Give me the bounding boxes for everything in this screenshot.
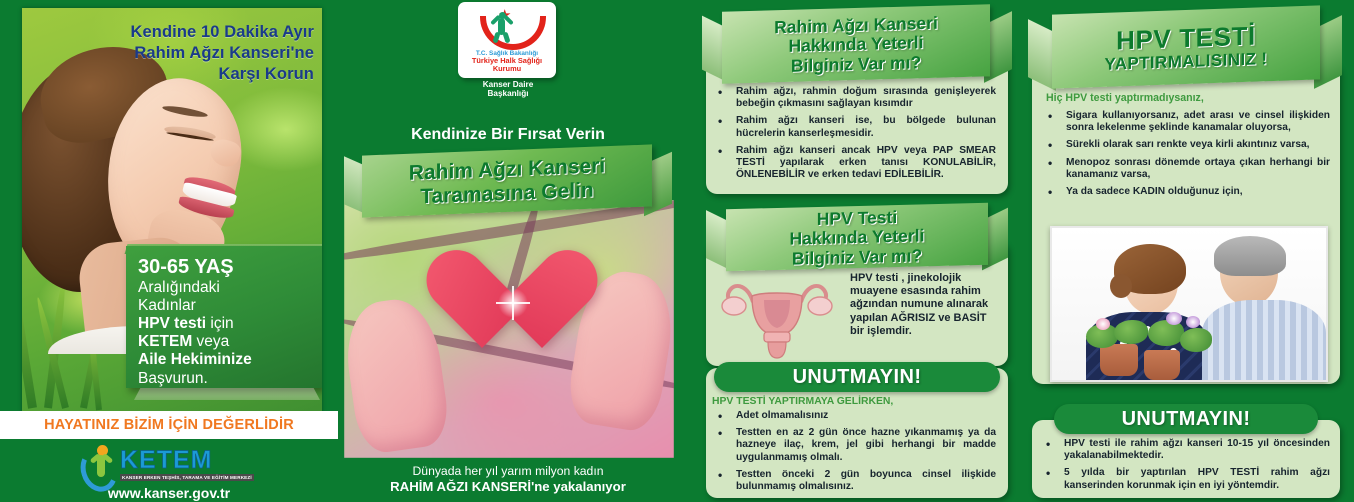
heart-hands-photo xyxy=(344,200,674,458)
card1-title-line-3: Bilginiz Var mı? xyxy=(791,53,921,76)
unutmayin-pill-three: UNUTMAYIN! xyxy=(714,362,1000,392)
age-line-2: Aralığındaki xyxy=(138,279,314,297)
card4-title-line-2: YAPTIRMALISINIZ ! xyxy=(1105,50,1268,74)
ketem-logo: KETEM KANSER ERKEN TEŞHİS, TARAMA VE EĞİ… xyxy=(75,444,254,484)
flower-shape xyxy=(1096,318,1110,330)
uterus-icon xyxy=(708,272,846,360)
list-item: Rahim ağzı kanseri ancak HPV veya PAP SM… xyxy=(710,145,996,182)
headline-line-3: Karşı Korun xyxy=(52,64,314,85)
flower-shape xyxy=(1186,316,1200,328)
headline-line-1: Kendine 10 Dakika Ayır xyxy=(52,22,314,43)
card1-bullet-list: Rahim ağzı, rahmin doğum sırasında geniş… xyxy=(710,86,996,187)
card2-title: HPV Testi Hakkında Yeterli Bilginiz Var … xyxy=(726,205,988,271)
left-headline: Kendine 10 Dakika Ayır Rahim Ağzı Kanser… xyxy=(52,22,314,84)
green-box-bottom-flap xyxy=(134,386,320,400)
hpv-test-rest: için xyxy=(206,315,234,332)
age-line-6: Aile Hekiminize xyxy=(138,351,314,369)
ministry-logo: ★ T.C. Sağlık Bakanlığı Türkiye Halk Sağ… xyxy=(458,2,556,78)
orange-slogan-text: HAYATINIZ BİZİM İÇİN DEĞERLİDİR xyxy=(44,417,294,433)
left-photo-card: Kendine 10 Dakika Ayır Rahim Ağzı Kanser… xyxy=(22,8,322,413)
age-line-7: Başvurun. xyxy=(138,370,314,388)
ketem-url[interactable]: www.kanser.gov.tr xyxy=(0,485,338,501)
list-item: Testten önceki 2 gün boyunca cinsel iliş… xyxy=(710,469,996,493)
list-item: Menopoz sonrası dönemde ortaya çıkan her… xyxy=(1040,157,1330,181)
card1-title: Rahim Ağzı Kanseri Hakkında Yeterli Bilg… xyxy=(722,6,990,83)
unutmayin-label: UNUTMAYIN! xyxy=(1122,408,1251,431)
card2-title-line-3: Bilginiz Var mı? xyxy=(792,246,922,268)
age-range: 30-65 YAŞ xyxy=(138,256,314,279)
age-callout-box: 30-65 YAŞ Aralığındaki Kadınlar HPV test… xyxy=(126,246,322,388)
unutmayin-pill-four: UNUTMAYIN! xyxy=(1054,404,1318,434)
card3-intro: HPV TESTİ YAPTIRMAYA GELİRKEN, xyxy=(712,396,893,407)
list-item: Rahim ağzı kanseri ise, bu bölgede bulun… xyxy=(710,115,996,139)
panel-left: Kendine 10 Dakika Ayır Rahim Ağzı Kanser… xyxy=(0,0,338,502)
list-item: Ya da sadece KADIN olduğunuz için, xyxy=(1040,186,1330,198)
ministry-line-3: Kurumu xyxy=(458,65,556,73)
leaf-shape xyxy=(1180,328,1212,352)
panel-four: HPV TESTİ YAPTIRMALISINIZ ! Hiç HPV test… xyxy=(1018,0,1354,502)
middle-banner-text: Rahim Ağzı Kanseri Taramasına Gelin xyxy=(362,146,652,217)
card4-intro: Hiç HPV testi yaptırmadıysanız, xyxy=(1046,92,1204,104)
list-item: Testten en az 2 gün önce hazne yıkanmamı… xyxy=(710,427,996,464)
ketem-logo-block: KETEM KANSER ERKEN TEŞHİS, TARAMA VE EĞİ… xyxy=(0,439,338,502)
headline-line-2: Rahim Ağzı Kanseri'ne xyxy=(52,43,314,64)
card4b-bullet-list: HPV testi ile rahim ağzı kanseri 10-15 y… xyxy=(1038,438,1330,497)
list-item: Sigara kullanıyorsanız, adet arası ve ci… xyxy=(1040,110,1330,134)
age-line-3: Kadınlar xyxy=(138,297,314,315)
hpv-test-bold: HPV testi xyxy=(138,315,206,332)
ketem-wordmark: KETEM xyxy=(120,448,254,473)
flower-pot-shape xyxy=(1144,350,1180,380)
ketem-figure-icon xyxy=(75,444,117,484)
middle-footer-line-1: Dünyada her yıl yarım milyon kadın xyxy=(338,464,678,479)
ministry-emblem-icon: ★ xyxy=(458,2,556,48)
panel-three: Rahim Ağzı Kanseri Hakkında Yeterli Bilg… xyxy=(700,0,1018,502)
flower-shape xyxy=(1166,312,1182,325)
ketem-bold: KETEM xyxy=(138,333,192,350)
ketem-rest: veya xyxy=(192,333,229,350)
man-shirt-shape xyxy=(1202,300,1326,382)
poster-root: Kendine 10 Dakika Ayır Rahim Ağzı Kanser… xyxy=(0,0,1354,502)
orange-slogan-strip: HAYATINIZ BİZİM İÇİN DEĞERLİDİR xyxy=(0,411,338,439)
card4-bullet-list: Sigara kullanıyorsanız, adet arası ve ci… xyxy=(1040,110,1330,203)
card3-bullet-list: Adet olmamalısınız Testten en az 2 gün ö… xyxy=(710,410,996,498)
woman-bun-shape xyxy=(1110,274,1132,298)
card4-title: HPV TESTİ YAPTIRMALISINIZ ! xyxy=(1052,7,1320,88)
list-item: Adet olmamalısınız xyxy=(710,410,996,422)
elderly-couple-photo xyxy=(1050,226,1328,382)
panel-middle: ★ T.C. Sağlık Bakanlığı Türkiye Halk Sağ… xyxy=(338,0,678,502)
middle-subheading: Kendinize Bir Fırsat Verin xyxy=(338,126,678,144)
man-hair-shape xyxy=(1214,236,1286,276)
ministry-caption: Kanser Daire Başkanlığı xyxy=(448,80,568,99)
age-line-5: KETEM veya xyxy=(138,333,314,351)
ministry-caption-line-1: Kanser Daire xyxy=(448,80,568,89)
middle-footer: Dünyada her yıl yarım milyon kadın RAHİM… xyxy=(338,458,678,496)
age-line-4: HPV testi için xyxy=(138,315,314,333)
ketem-subtitle: KANSER ERKEN TEŞHİS, TARAMA VE EĞİTİM ME… xyxy=(120,474,254,481)
sparkle-icon xyxy=(496,286,530,320)
card2-body-text: HPV testi , jinekolojik muayene esasında… xyxy=(850,272,1000,338)
flower-pot-shape xyxy=(1100,344,1138,376)
list-item: Rahim ağzı, rahmin doğum sırasında geniş… xyxy=(710,86,996,110)
list-item: HPV testi ile rahim ağzı kanseri 10-15 y… xyxy=(1038,438,1330,462)
unutmayin-label: UNUTMAYIN! xyxy=(793,366,922,389)
middle-footer-line-2: RAHİM AĞZI KANSERİ'ne yakalanıyor xyxy=(338,479,678,496)
leaf-shape xyxy=(1114,320,1148,344)
leaf-shape xyxy=(1148,320,1184,346)
ministry-caption-line-2: Başkanlığı xyxy=(448,89,568,98)
list-item: Sürekli olarak sarı renkte veya kirli ak… xyxy=(1040,139,1330,151)
list-item: 5 yılda bir yaptırılan HPV TESTİ rahim a… xyxy=(1038,467,1330,491)
